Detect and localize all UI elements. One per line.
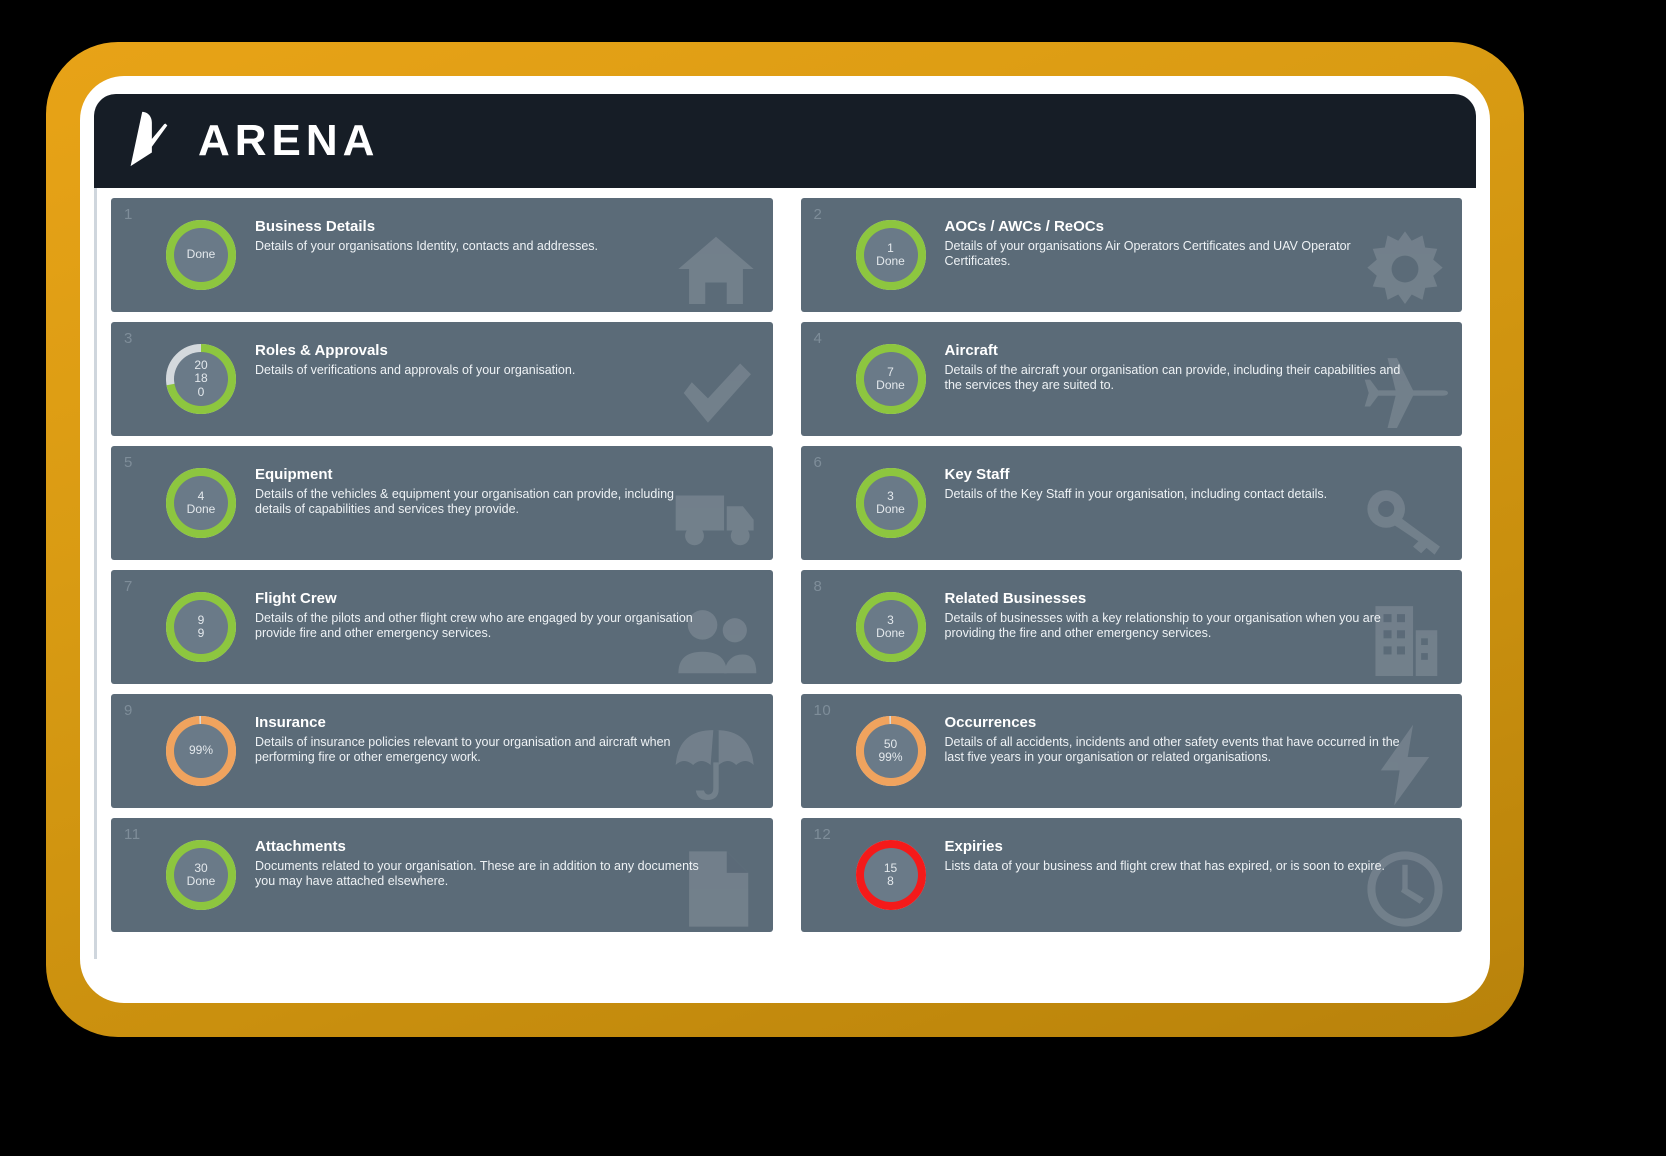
- card-title: Expiries: [945, 838, 1403, 855]
- device-frame: ARENA 1DoneBusiness DetailsDetails of yo…: [46, 42, 1524, 1037]
- card-index: 8: [814, 578, 823, 595]
- donut-value-line: 7: [887, 366, 894, 379]
- donut-value-line: Done: [187, 503, 216, 516]
- donut-value-line: Done: [187, 248, 216, 261]
- progress-donut[interactable]: 158: [843, 818, 939, 932]
- app-window: ARENA 1DoneBusiness DetailsDetails of yo…: [94, 94, 1476, 959]
- task-card-aircraft[interactable]: 47DoneAircraftDetails of the aircraft yo…: [801, 322, 1463, 436]
- card-description: Details of businesses with a key relatio…: [945, 611, 1403, 642]
- donut-ring: 4Done: [165, 467, 237, 539]
- card-description: Details of verifications and approvals o…: [255, 363, 713, 378]
- task-card-occurrences[interactable]: 105099%OccurrencesDetails of all acciden…: [801, 694, 1463, 808]
- card-title: Equipment: [255, 466, 713, 483]
- donut-center-labels: 7Done: [864, 352, 918, 406]
- card-description: Details of the vehicles & equipment your…: [255, 487, 713, 518]
- card-title: Flight Crew: [255, 590, 713, 607]
- donut-center-labels: 5099%: [864, 724, 918, 778]
- progress-donut[interactable]: 7Done: [843, 322, 939, 436]
- donut-value-line: 30: [194, 862, 207, 875]
- donut-value-line: 18: [194, 372, 207, 385]
- donut-value-line: 9: [198, 627, 205, 640]
- progress-donut[interactable]: 3Done: [843, 446, 939, 560]
- card-index: 7: [124, 578, 133, 595]
- card-title: Business Details: [255, 218, 713, 235]
- card-title: Insurance: [255, 714, 713, 731]
- donut-value-line: 4: [198, 490, 205, 503]
- card-title: Roles & Approvals: [255, 342, 713, 359]
- card-title: AOCs / AWCs / ReOCs: [945, 218, 1403, 235]
- card-description: Details of all accidents, incidents and …: [945, 735, 1403, 766]
- donut-value-line: 0: [198, 386, 205, 399]
- progress-donut[interactable]: 99%: [153, 694, 249, 808]
- card-title: Related Businesses: [945, 590, 1403, 607]
- donut-center-labels: 1Done: [864, 228, 918, 282]
- card-text-block: Roles & ApprovalsDetails of verification…: [249, 322, 773, 378]
- progress-donut[interactable]: 4Done: [153, 446, 249, 560]
- card-index: 1: [124, 206, 133, 223]
- card-grid: 1DoneBusiness DetailsDetails of your org…: [94, 188, 1476, 959]
- donut-center-labels: 30Done: [174, 848, 228, 902]
- task-card-business-details[interactable]: 1DoneBusiness DetailsDetails of your org…: [111, 198, 773, 312]
- donut-center-labels: 99: [174, 600, 228, 654]
- card-index: 12: [814, 826, 832, 843]
- card-description: Details of the aircraft your organisatio…: [945, 363, 1403, 394]
- donut-center-labels: 3Done: [864, 600, 918, 654]
- task-card-roles-approvals[interactable]: 320180Roles & ApprovalsDetails of verifi…: [111, 322, 773, 436]
- card-description: Details of insurance policies relevant t…: [255, 735, 713, 766]
- progress-donut[interactable]: Done: [153, 198, 249, 312]
- donut-value-line: 3: [887, 614, 894, 627]
- donut-value-line: 50: [884, 738, 897, 751]
- donut-ring: 99: [165, 591, 237, 663]
- progress-donut[interactable]: 30Done: [153, 818, 249, 932]
- donut-ring: 3Done: [855, 591, 927, 663]
- card-text-block: Flight CrewDetails of the pilots and oth…: [249, 570, 773, 642]
- card-text-block: AircraftDetails of the aircraft your org…: [939, 322, 1463, 394]
- donut-ring: 7Done: [855, 343, 927, 415]
- donut-value-line: Done: [876, 627, 905, 640]
- card-title: Aircraft: [945, 342, 1403, 359]
- donut-value-line: 8: [887, 875, 894, 888]
- card-description: Details of your organisations Air Operat…: [945, 239, 1403, 270]
- donut-ring: 99%: [165, 715, 237, 787]
- donut-value-line: Done: [187, 875, 216, 888]
- arena-arrow-logo-icon: [122, 110, 174, 173]
- card-text-block: Business DetailsDetails of your organisa…: [249, 198, 773, 254]
- card-text-block: InsuranceDetails of insurance policies r…: [249, 694, 773, 766]
- card-text-block: AttachmentsDocuments related to your org…: [249, 818, 773, 890]
- donut-value-line: Done: [876, 503, 905, 516]
- donut-value-line: 20: [194, 359, 207, 372]
- card-text-block: Key StaffDetails of the Key Staff in you…: [939, 446, 1463, 502]
- task-card-flight-crew[interactable]: 799Flight CrewDetails of the pilots and …: [111, 570, 773, 684]
- donut-center-labels: 3Done: [864, 476, 918, 530]
- card-title: Occurrences: [945, 714, 1403, 731]
- progress-donut[interactable]: 1Done: [843, 198, 939, 312]
- card-index: 9: [124, 702, 133, 719]
- card-description: Lists data of your business and flight c…: [945, 859, 1403, 874]
- card-text-block: Related BusinessesDetails of businesses …: [939, 570, 1463, 642]
- donut-center-labels: 99%: [174, 724, 228, 778]
- card-text-block: OccurrencesDetails of all accidents, inc…: [939, 694, 1463, 766]
- card-index: 2: [814, 206, 823, 223]
- progress-donut[interactable]: 5099%: [843, 694, 939, 808]
- donut-ring: 1Done: [855, 219, 927, 291]
- donut-ring: 20180: [165, 343, 237, 415]
- donut-value-line: 9: [198, 614, 205, 627]
- card-title: Key Staff: [945, 466, 1403, 483]
- card-index: 3: [124, 330, 133, 347]
- donut-ring: 5099%: [855, 715, 927, 787]
- task-card-attachments[interactable]: 1130DoneAttachmentsDocuments related to …: [111, 818, 773, 932]
- task-card-expiries[interactable]: 12158ExpiriesLists data of your business…: [801, 818, 1463, 932]
- donut-value-line: 1: [887, 242, 894, 255]
- progress-donut[interactable]: 3Done: [843, 570, 939, 684]
- donut-value-line: 99%: [189, 744, 213, 757]
- task-card-aocs-awcs-reocs[interactable]: 21DoneAOCs / AWCs / ReOCsDetails of your…: [801, 198, 1463, 312]
- card-description: Details of your organisations Identity, …: [255, 239, 713, 254]
- task-card-equipment[interactable]: 54DoneEquipmentDetails of the vehicles &…: [111, 446, 773, 560]
- app-header: ARENA: [94, 94, 1476, 188]
- donut-ring: 30Done: [165, 839, 237, 911]
- donut-center-labels: 4Done: [174, 476, 228, 530]
- brand-title: ARENA: [198, 116, 379, 166]
- device-bezel: ARENA 1DoneBusiness DetailsDetails of yo…: [80, 76, 1490, 1003]
- card-text-block: EquipmentDetails of the vehicles & equip…: [249, 446, 773, 518]
- card-title: Attachments: [255, 838, 713, 855]
- task-card-insurance[interactable]: 999%InsuranceDetails of insurance polici…: [111, 694, 773, 808]
- donut-center-labels: 158: [864, 848, 918, 902]
- card-index: 6: [814, 454, 823, 471]
- donut-value-line: 99%: [878, 751, 902, 764]
- donut-center-labels: Done: [174, 228, 228, 282]
- card-text-block: ExpiriesLists data of your business and …: [939, 818, 1463, 874]
- card-description: Details of the pilots and other flight c…: [255, 611, 713, 642]
- card-index: 4: [814, 330, 823, 347]
- donut-ring: 158: [855, 839, 927, 911]
- donut-value-line: 15: [884, 862, 897, 875]
- donut-ring: 3Done: [855, 467, 927, 539]
- donut-value-line: Done: [876, 255, 905, 268]
- card-index: 11: [124, 826, 141, 843]
- donut-ring: Done: [165, 219, 237, 291]
- card-description: Details of the Key Staff in your organis…: [945, 487, 1403, 502]
- card-index: 5: [124, 454, 133, 471]
- card-description: Documents related to your organisation. …: [255, 859, 713, 890]
- progress-donut[interactable]: 20180: [153, 322, 249, 436]
- task-card-key-staff[interactable]: 63DoneKey StaffDetails of the Key Staff …: [801, 446, 1463, 560]
- progress-donut[interactable]: 99: [153, 570, 249, 684]
- card-text-block: AOCs / AWCs / ReOCsDetails of your organ…: [939, 198, 1463, 270]
- donut-value-line: Done: [876, 379, 905, 392]
- card-index: 10: [814, 702, 832, 719]
- donut-value-line: 3: [887, 490, 894, 503]
- task-card-related-businesses[interactable]: 83DoneRelated BusinessesDetails of busin…: [801, 570, 1463, 684]
- donut-center-labels: 20180: [174, 352, 228, 406]
